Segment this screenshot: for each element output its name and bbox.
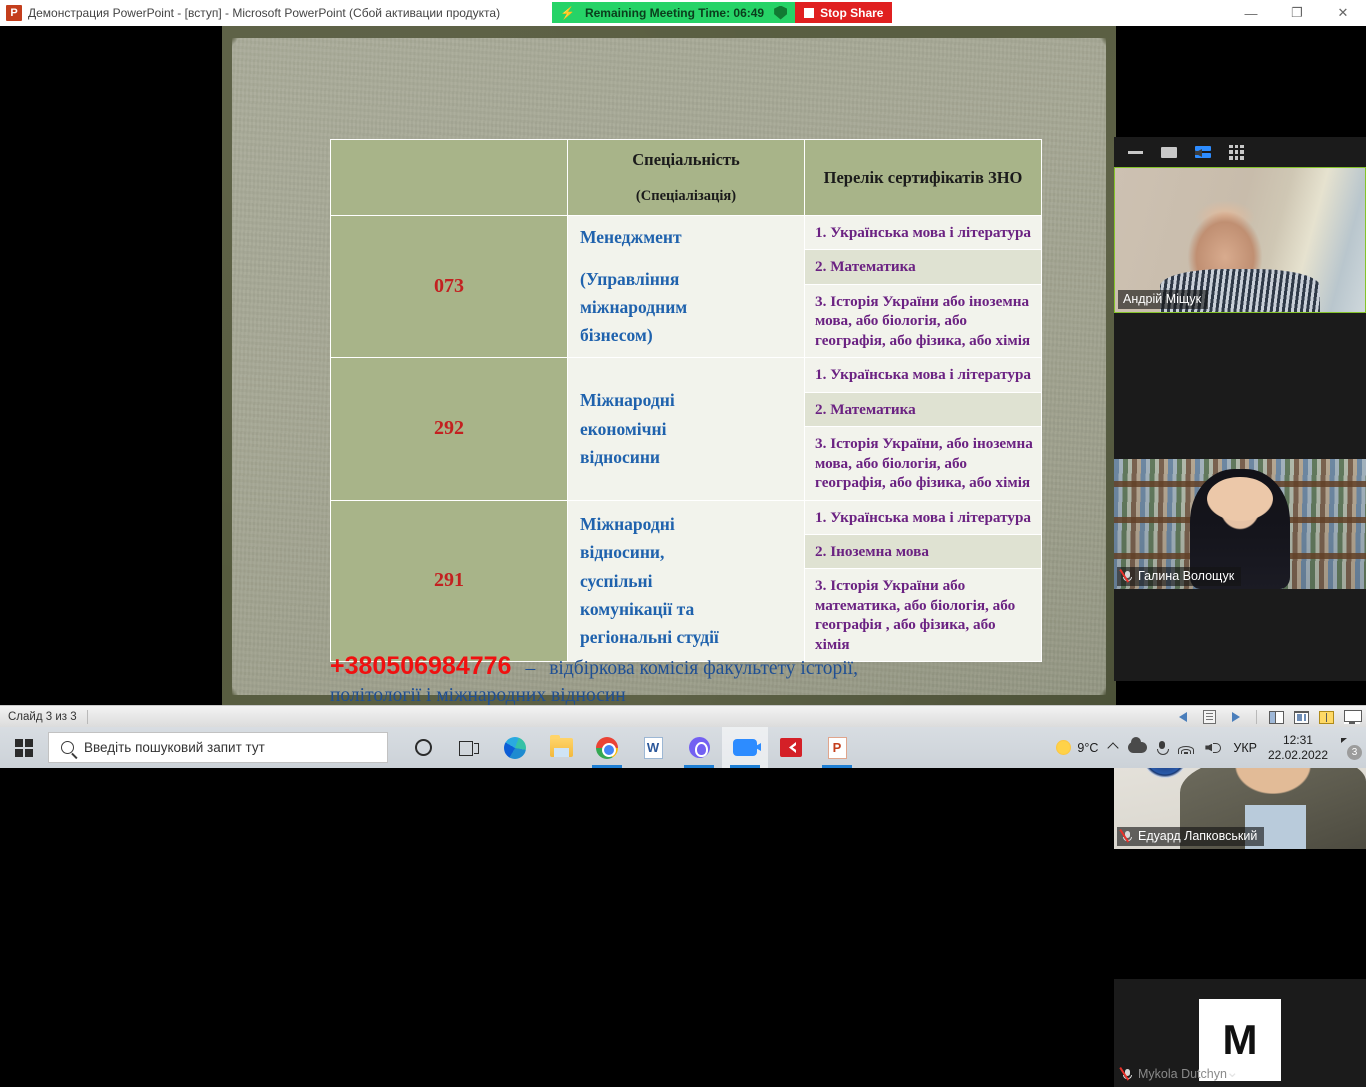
table-row: 291 Міжнародні відносини, суспільні кому…: [331, 500, 1042, 534]
restore-button[interactable]: ❐: [1274, 0, 1320, 26]
normal-view-icon[interactable]: [1269, 711, 1284, 724]
task-view-icon[interactable]: [446, 727, 492, 768]
participant-name-bar: Андрій Міщук: [1118, 290, 1208, 309]
contact-text-line2: політології і міжнародних відносин: [330, 685, 1050, 705]
maximize-icon[interactable]: [1161, 147, 1177, 158]
chevron-down-icon[interactable]: ⌄: [1226, 1063, 1239, 1081]
cortana-icon[interactable]: [400, 727, 446, 768]
mic-muted-icon: [1122, 1068, 1133, 1081]
lightning-icon: ⚡: [560, 6, 575, 20]
participant-video-tile[interactable]: Галина Волощук: [1114, 459, 1366, 589]
status-bar-controls: [1179, 706, 1360, 728]
powerpoint-icon[interactable]: [814, 727, 860, 768]
meeting-toolbar: ⚡ Remaining Meeting Time: 06:49 Stop Sha…: [552, 2, 892, 23]
stop-share-button[interactable]: Stop Share: [795, 2, 892, 23]
contact-line-1: +380506984776 – відбіркова комісія факул…: [330, 652, 1050, 681]
viber-icon[interactable]: [676, 727, 722, 768]
search-input[interactable]: Введіть пошуковий запит тут: [48, 732, 388, 763]
minimize-button[interactable]: —: [1228, 0, 1274, 26]
specialty-name-line: комунікації та: [580, 599, 694, 619]
specialty-name-line: бізнесом): [580, 325, 653, 345]
specialty-name: Менеджмент (Управління міжнародним бізне…: [568, 216, 805, 358]
window-controls: — ❐ ✕: [1228, 0, 1366, 26]
specialty-name: Міжнародні відносини, суспільні комуніка…: [568, 500, 805, 662]
phone-number: +380506984776: [330, 652, 511, 681]
slide-sorter-icon[interactable]: [1294, 711, 1309, 724]
clock[interactable]: 12:31 22.02.2022: [1268, 733, 1328, 763]
specialty-code: 073: [331, 216, 568, 358]
header-specialty-main: Спеціальність: [632, 150, 739, 169]
header-certificates-cell: Перелік сертифікатів ЗНО: [805, 140, 1042, 216]
gallery-view-icon[interactable]: [1229, 145, 1244, 160]
participant-name-bar: Едуард Лапковський: [1117, 827, 1264, 846]
participant-face: [1207, 477, 1273, 521]
slide-counter: Слайд 3 из 3: [0, 711, 77, 723]
certificate-item: 1. Українська мова і література: [805, 500, 1042, 534]
arrow-right-icon[interactable]: [1232, 712, 1240, 722]
slide-show-icon[interactable]: [1344, 710, 1360, 724]
certificate-item: 1. Українська мова і література: [805, 358, 1042, 392]
search-placeholder: Введіть пошуковий запит тут: [84, 740, 265, 755]
remaining-time-label: Remaining Meeting Time: 06:49: [585, 6, 764, 20]
certificate-item: 2. Математика: [805, 250, 1042, 284]
window-title: Демонстрация PowerPoint - [вступ] - Micr…: [28, 6, 500, 20]
weather-temperature: 9°C: [1077, 741, 1098, 755]
specialty-name-line: регіональні студії: [580, 627, 719, 647]
dash: –: [525, 658, 535, 680]
table-header-row: Спеціальність (Спеціалізація) Перелік се…: [331, 140, 1042, 216]
clock-date: 22.02.2022: [1268, 748, 1328, 763]
zoom-video-panel: Андрій Міщук Галина Волощук: [1114, 137, 1366, 681]
participant-name: Едуард Лапковський: [1138, 829, 1257, 843]
specialty-name-line: економічні: [580, 419, 666, 439]
table-row: 292 Міжнародні економічні відносини 1. У…: [331, 358, 1042, 392]
specialties-table: Спеціальність (Спеціалізація) Перелік се…: [330, 139, 1042, 662]
divider: [87, 710, 88, 724]
windows-start-icon[interactable]: [0, 727, 48, 768]
specialty-name-line: міжнародним: [580, 297, 687, 317]
close-button[interactable]: ✕: [1320, 0, 1366, 26]
language-indicator[interactable]: УКР: [1233, 741, 1257, 755]
notes-icon[interactable]: [1203, 710, 1216, 724]
weather-widget[interactable]: 9°C: [1056, 740, 1098, 755]
participant-video-tile[interactable]: M Mykola Dutchyn ⌄: [1114, 979, 1366, 1087]
stop-share-label: Stop Share: [820, 6, 883, 20]
spacer: [580, 252, 804, 265]
participant-name-bar: Mykola Dutchyn: [1117, 1065, 1234, 1084]
cloud-icon[interactable]: [1128, 742, 1147, 753]
specialty-name-line: суспільні: [580, 571, 652, 591]
wifi-icon[interactable]: [1177, 741, 1194, 754]
specialty-name: Міжнародні економічні відносини: [568, 358, 805, 500]
notification-icon[interactable]: 3: [1339, 739, 1358, 756]
microphone-icon[interactable]: [1158, 741, 1166, 755]
word-icon[interactable]: [630, 727, 676, 768]
specialty-name-line: Менеджмент: [580, 227, 682, 247]
notification-count: 3: [1347, 745, 1362, 760]
mic-muted-icon: [1122, 570, 1133, 583]
presentation-stage: Спеціальність (Спеціалізація) Перелік се…: [0, 26, 1366, 705]
specialty-code: 291: [331, 500, 568, 662]
participant-name: Mykola Dutchyn: [1138, 1067, 1227, 1081]
certificate-item: 2. Іноземна мова: [805, 534, 1042, 568]
arrow-left-icon[interactable]: [1179, 712, 1187, 722]
zoom-panel-toolbar: [1114, 137, 1366, 167]
contact-text-line1: відбіркова комісія факультету історії,: [549, 658, 1050, 680]
header-specialty-sub: (Спеціалізація): [574, 188, 798, 205]
slide-canvas[interactable]: Спеціальність (Спеціалізація) Перелік се…: [222, 26, 1116, 705]
clock-time: 12:31: [1283, 733, 1313, 748]
certificate-item: 3. Історія України або іноземна мова, аб…: [805, 284, 1042, 357]
powerpoint-icon: P: [6, 5, 22, 21]
powerpoint-status-bar: Слайд 3 из 3: [0, 705, 1366, 727]
volume-icon[interactable]: [1205, 741, 1222, 755]
certificate-item: 1. Українська мова і література: [805, 216, 1042, 250]
red-app-icon[interactable]: [768, 727, 814, 768]
specialty-name-line: Міжнародні: [580, 390, 675, 410]
certificate-item: 3. Історія України або математика, або б…: [805, 569, 1042, 662]
edge-icon[interactable]: [492, 727, 538, 768]
table-row: 073 Менеджмент (Управління міжнародним б…: [331, 216, 1042, 250]
chevron-up-icon[interactable]: [1108, 742, 1119, 753]
speaker-view-icon[interactable]: [1195, 146, 1211, 158]
participant-video-tile[interactable]: Андрій Міщук: [1114, 167, 1366, 313]
stop-square-icon: [804, 8, 814, 18]
zoom-icon[interactable]: [722, 727, 768, 768]
sun-icon: [1056, 740, 1071, 755]
specialty-name-line: Міжнародні: [580, 514, 675, 534]
specialty-code: 292: [331, 358, 568, 500]
view-buttons: [1256, 710, 1360, 724]
minimize-icon[interactable]: [1128, 151, 1143, 154]
specialty-name-line: відносини,: [580, 542, 664, 562]
mic-muted-icon: [1122, 830, 1133, 843]
participant-name: Андрій Міщук: [1123, 292, 1201, 306]
header-specialty-cell: Спеціальність (Спеціалізація): [568, 140, 805, 216]
remaining-time-banner: ⚡ Remaining Meeting Time: 06:49: [552, 2, 795, 23]
participant-name-bar: Галина Волощук: [1117, 567, 1241, 586]
file-explorer-icon[interactable]: [538, 727, 584, 768]
chrome-icon[interactable]: [584, 727, 630, 768]
taskbar-app-icons: [400, 727, 860, 768]
reading-view-icon[interactable]: [1319, 711, 1334, 724]
system-tray: 9°C УКР 12:31 22.02.2022 3: [1056, 727, 1366, 768]
specialty-name-line: (Управління: [580, 269, 679, 289]
shield-icon[interactable]: [774, 6, 787, 20]
header-code-cell: [331, 140, 568, 216]
certificate-item: 2. Математика: [805, 392, 1042, 426]
certificate-item: 3. Історія України, або іноземна мова, а…: [805, 427, 1042, 500]
contact-footer: +380506984776 – відбіркова комісія факул…: [330, 652, 1050, 705]
specialty-name-line: відносини: [580, 447, 660, 467]
search-icon: [61, 741, 74, 754]
participant-name: Галина Волощук: [1138, 569, 1234, 583]
